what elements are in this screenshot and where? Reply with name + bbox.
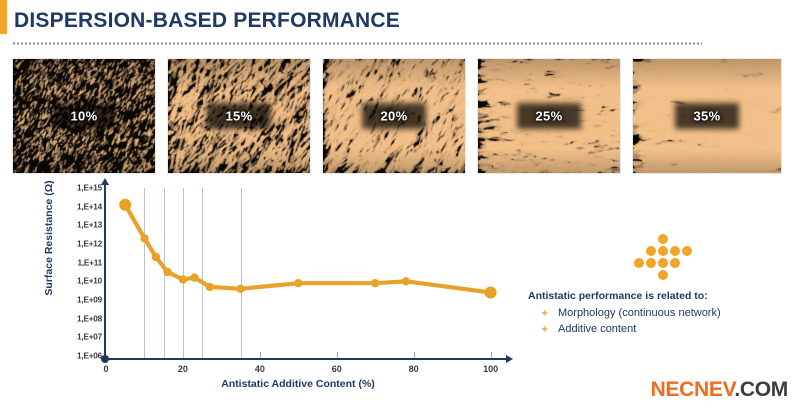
micrograph-panel-4[interactable]: 25% [477, 58, 621, 174]
chart-y-tick-label: 1,E+10 [40, 277, 102, 286]
chart-x-tick-label: 100 [483, 364, 498, 374]
chart-origin-marker [101, 355, 109, 363]
chart-data-point[interactable] [402, 277, 410, 285]
chart-x-axis-line [104, 358, 508, 360]
chart-y-tick-label: 1,E+12 [40, 240, 102, 249]
micrograph-label: 35% [633, 109, 781, 124]
chart-x-tick-label: 40 [255, 364, 265, 374]
chart-x-tick-label: 60 [332, 364, 342, 374]
watermark-tld: .COM [734, 378, 788, 401]
dot-cluster-dot [658, 270, 668, 280]
sparkle-bullet-icon: ✦ [540, 306, 549, 322]
chart-y-tick-label: 1,E+11 [40, 258, 102, 267]
chart-data-point[interactable] [206, 283, 214, 291]
list-item-label: Additive content [558, 323, 636, 335]
micrograph-strip: 10% 15% 20% 25% 35% [0, 58, 800, 174]
conclusion-title: Antistatic performance is related to: [528, 290, 790, 302]
dot-cluster-dot [670, 258, 680, 268]
conclusion-bullet-list: ✦ Morphology (continuous network) ✦ Addi… [528, 305, 790, 337]
chart-x-tick-label: 0 [103, 364, 108, 374]
micrograph-panel-1[interactable]: 10% [12, 58, 156, 174]
list-item-label: Morphology (continuous network) [558, 307, 721, 319]
chart-x-tick-label: 80 [409, 364, 419, 374]
chart-data-point[interactable] [179, 275, 187, 283]
chart-y-tick-label: 1,E+14 [40, 202, 102, 211]
dot-cluster-dot [658, 258, 668, 268]
conclusion-panel: Antistatic performance is related to: ✦ … [528, 232, 790, 337]
chart-y-tick-label: 1,E+08 [40, 314, 102, 323]
dot-cluster-dot [646, 246, 656, 256]
list-item: ✦ Additive content [528, 321, 790, 337]
header-dotted-divider [12, 42, 702, 45]
sparkle-bullet-icon: ✦ [540, 322, 549, 338]
chart-data-point[interactable] [140, 234, 148, 242]
chart-data-point[interactable] [163, 268, 171, 276]
micrograph-panel-2[interactable]: 15% [167, 58, 311, 174]
chart-y-tick-label: 1,E+13 [40, 221, 102, 230]
page-title: DISPERSION-BASED PERFORMANCE [14, 9, 400, 33]
chart-data-point[interactable] [152, 253, 160, 261]
chart-data-point[interactable] [371, 279, 379, 287]
chart-y-tick-label: 1,E+07 [40, 333, 102, 342]
chart-data-point[interactable] [485, 287, 497, 299]
micrograph-label: 15% [168, 109, 310, 124]
chart-x-tick-label: 20 [178, 364, 188, 374]
header-accent-bar [0, 0, 7, 34]
watermark: NECNEV.COM [651, 378, 788, 402]
micrograph-label: 20% [323, 109, 465, 124]
micrograph-label: 10% [13, 109, 155, 124]
chart-data-point[interactable] [190, 273, 198, 281]
micrograph-panel-5[interactable]: 35% [632, 58, 782, 174]
dot-cluster-dot [682, 246, 692, 256]
chart-data-point[interactable] [236, 285, 244, 293]
slide-root: DISPERSION-BASED PERFORMANCE 10% 15% 20%… [0, 0, 800, 412]
chart-y-tick-label: 1,E+09 [40, 296, 102, 305]
dot-cluster-dot [634, 258, 644, 268]
list-item: ✦ Morphology (continuous network) [528, 305, 790, 321]
chart-data-point[interactable] [119, 199, 131, 211]
chart-x-axis-title: Antistatic Additive Content (%) [18, 378, 518, 390]
dot-cluster-dot [646, 258, 656, 268]
watermark-brand: NECNEV [651, 378, 735, 401]
chart-y-axis-arrow [101, 178, 109, 185]
dot-cluster-icon [626, 232, 692, 282]
micrograph-panel-3[interactable]: 20% [322, 58, 466, 174]
micrograph-label: 25% [478, 109, 620, 124]
chart-plot-area [106, 188, 506, 356]
chart-data-point[interactable] [294, 279, 302, 287]
chart-series-resistance[interactable] [106, 188, 506, 356]
surface-resistance-chart: Surface Resistance (Ω) 1,E+151,E+141,E+1… [18, 182, 518, 397]
chart-x-axis-arrow [506, 355, 513, 363]
dot-cluster-dot [658, 234, 668, 244]
chart-y-tick-label: 1,E+15 [40, 184, 102, 193]
dot-cluster-dot [658, 246, 668, 256]
dot-cluster-dot [670, 246, 680, 256]
chart-y-tick-label: 1,E+06 [40, 352, 102, 361]
